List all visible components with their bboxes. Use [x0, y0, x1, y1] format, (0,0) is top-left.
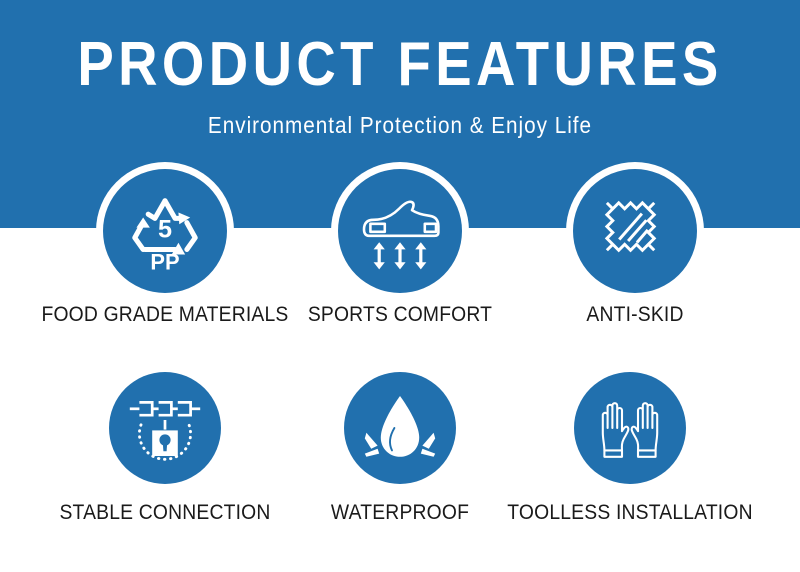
- feature-label: TOOLLESS INSTALLATION: [492, 500, 768, 526]
- svg-text:PP: PP: [150, 250, 179, 273]
- chain-link-lock-icon: [109, 372, 221, 484]
- shoe-cushion-arrows-icon: [338, 169, 462, 293]
- water-droplet-splash-icon: [344, 372, 456, 484]
- feature-label: ANTI-SKID: [497, 302, 773, 328]
- svg-text:5: 5: [158, 216, 172, 244]
- page-title: PRODUCT FEATURES: [48, 30, 752, 100]
- product-features-poster: PRODUCT FEATURES Environmental Protectio…: [0, 0, 800, 572]
- two-hands-icon: [574, 372, 686, 484]
- page-subtitle: Environmental Protection & Enjoy Life: [40, 110, 760, 140]
- zigzag-textured-mat-icon: [573, 169, 697, 293]
- recycling-pp5-icon: 5 PP: [103, 169, 227, 293]
